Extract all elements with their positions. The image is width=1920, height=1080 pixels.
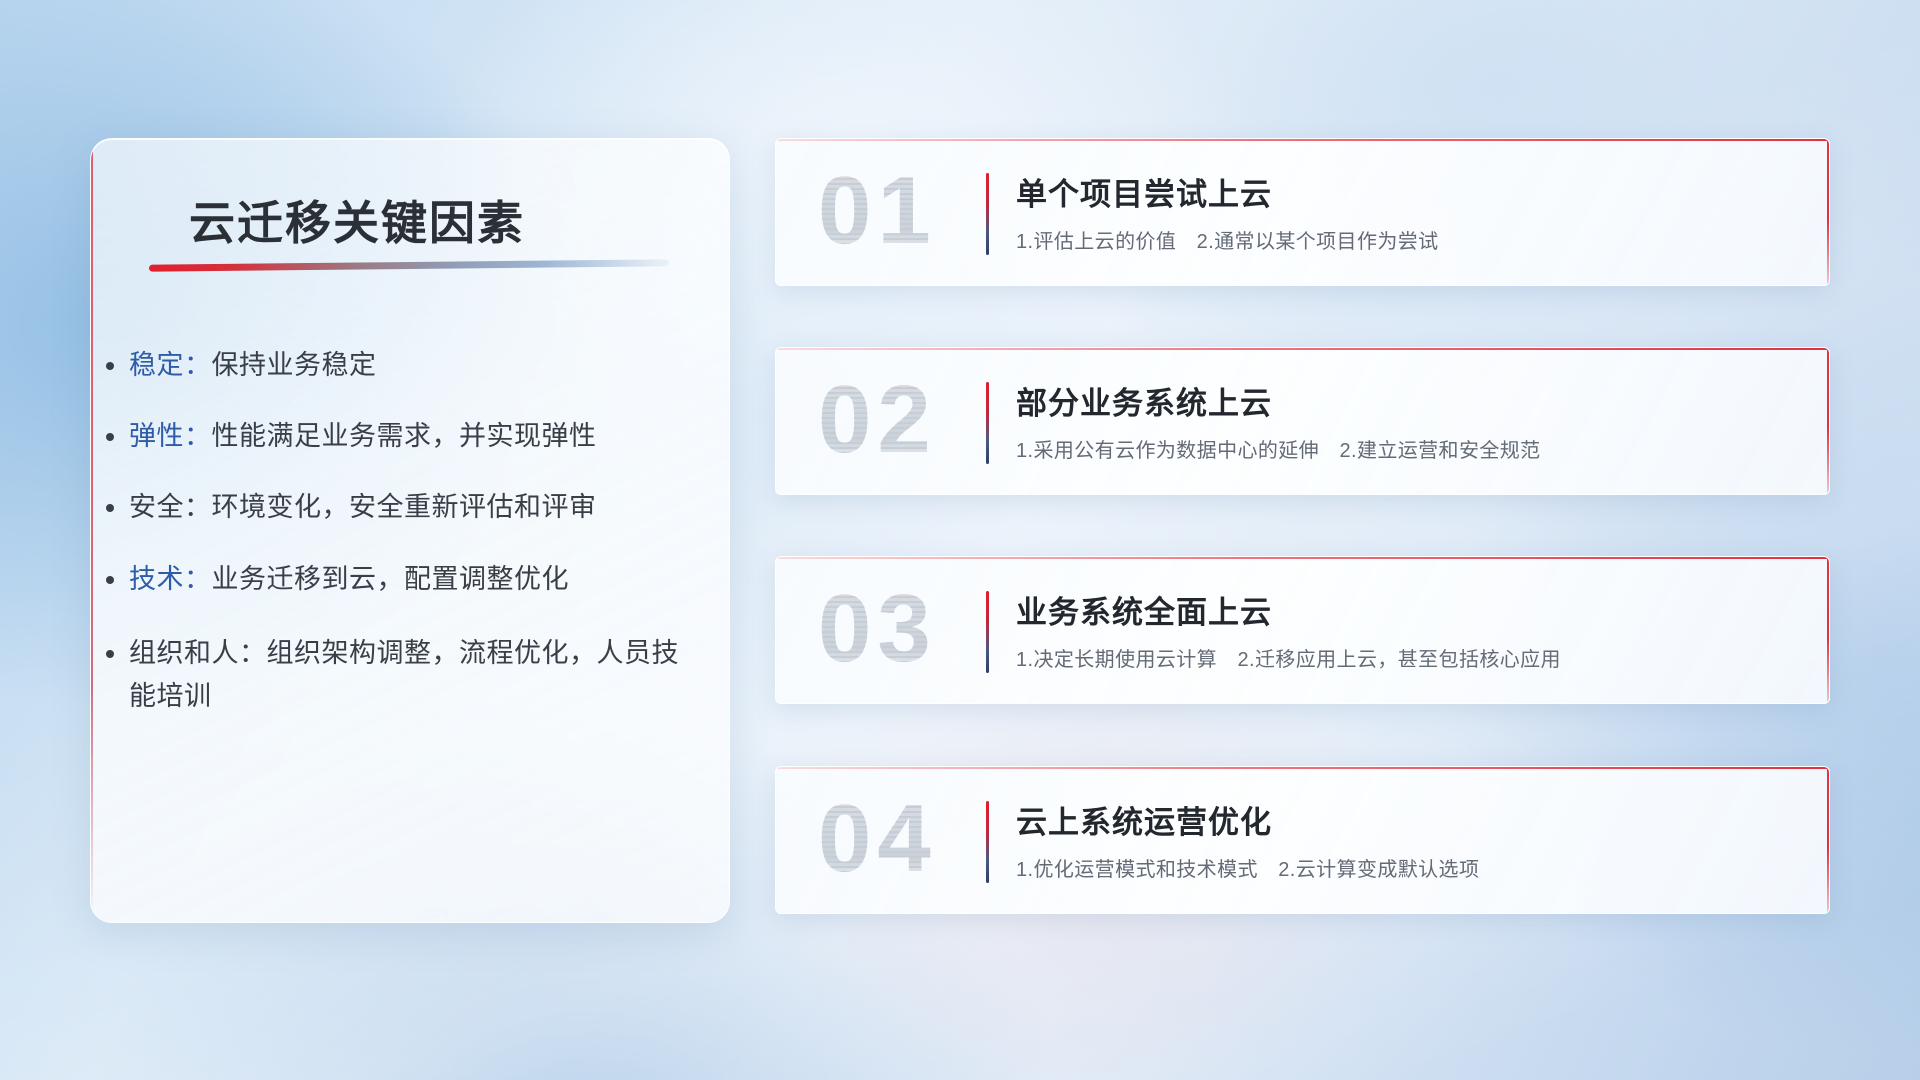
list-item-key: 稳定： <box>129 350 212 380</box>
step-title: 单个项目尝试上云 <box>1016 169 1272 214</box>
step-accent-divider <box>986 591 989 673</box>
step-accent-divider <box>986 173 989 255</box>
list-item: 组织和人：组织架构调整，流程优化，人员技能培训 <box>129 632 701 719</box>
key-factors-card: 云迁移关键因素 稳定：保持业务稳定 弹性：性能满足业务需求，并实现弹性 安全：环… <box>90 138 730 923</box>
list-item: 安全：环境变化，安全重新评估和评审 <box>129 489 701 525</box>
step-card-02[interactable]: 02 部分业务系统上云 1.采用公有云作为数据中心的延伸 2.建立运营和安全规范 <box>775 347 1830 495</box>
list-item-text: 性能满足业务需求，并实现弹性 <box>212 421 597 451</box>
step-number: 01 <box>818 163 937 259</box>
step-title: 业务系统全面上云 <box>1016 587 1272 632</box>
step-accent-divider <box>986 801 989 883</box>
list-item-text: 业务迁移到云，配置调整优化 <box>212 564 570 594</box>
slide-stage: 云迁移关键因素 稳定：保持业务稳定 弹性：性能满足业务需求，并实现弹性 安全：环… <box>0 0 1920 1080</box>
key-factors-list: 稳定：保持业务稳定 弹性：性能满足业务需求，并实现弹性 安全：环境变化，安全重新… <box>129 347 701 754</box>
step-title: 部分业务系统上云 <box>1016 378 1272 423</box>
list-item-key: 安全： <box>129 492 212 522</box>
step-number: 03 <box>818 581 937 677</box>
step-card-03[interactable]: 03 业务系统全面上云 1.决定长期使用云计算 2.迁移应用上云，甚至包括核心应… <box>775 556 1830 704</box>
step-subtitle: 1.评估上云的价值 2.通常以某个项目作为尝试 <box>1016 225 1439 254</box>
list-item-text: 环境变化，安全重新评估和评审 <box>212 492 597 522</box>
step-card-01[interactable]: 01 单个项目尝试上云 1.评估上云的价值 2.通常以某个项目作为尝试 <box>775 138 1830 286</box>
list-item-text: 保持业务稳定 <box>212 350 377 380</box>
page-title: 云迁移关键因素 <box>189 187 525 253</box>
list-item: 弹性：性能满足业务需求，并实现弹性 <box>129 418 701 454</box>
step-number: 02 <box>818 372 937 468</box>
step-subtitle: 1.优化运营模式和技术模式 2.云计算变成默认选项 <box>1016 853 1479 882</box>
list-item: 稳定：保持业务稳定 <box>129 347 701 383</box>
list-item: 技术：业务迁移到云，配置调整优化 <box>129 561 701 597</box>
list-item-key: 弹性： <box>129 421 212 451</box>
step-title: 云上系统运营优化 <box>1016 797 1272 842</box>
step-card-04[interactable]: 04 云上系统运营优化 1.优化运营模式和技术模式 2.云计算变成默认选项 <box>775 766 1830 914</box>
list-item-key: 技术： <box>129 564 212 594</box>
list-item-key: 组织和人： <box>129 638 267 668</box>
step-number: 04 <box>818 791 937 887</box>
step-subtitle: 1.决定长期使用云计算 2.迁移应用上云，甚至包括核心应用 <box>1016 643 1561 672</box>
step-subtitle: 1.采用公有云作为数据中心的延伸 2.建立运营和安全规范 <box>1016 434 1541 463</box>
step-accent-divider <box>986 382 989 464</box>
title-underline-gradient <box>149 259 669 271</box>
